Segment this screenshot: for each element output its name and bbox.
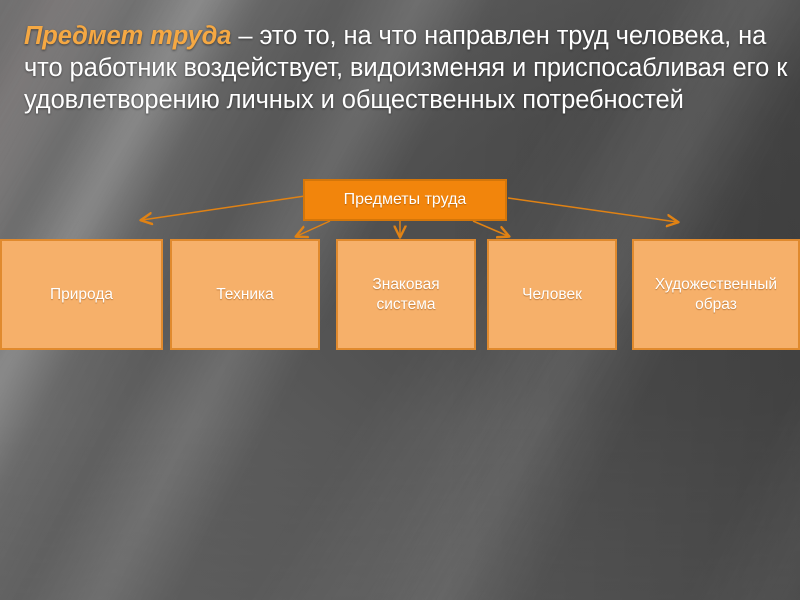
diagram-node-root[interactable]: Предметы труда [303, 179, 507, 221]
diagram-node-chelovek[interactable]: Человек [487, 239, 617, 350]
diagram-node-chelovek-label: Человек [522, 285, 582, 305]
diagram-node-hudozhestvennyy-obraz-label: Художественный образ [646, 275, 786, 315]
diagram-node-priroda-label: Природа [50, 285, 113, 305]
diagram-node-znakovaya-sistema-label: Знаковая система [351, 275, 461, 315]
diagram-node-priroda[interactable]: Природа [0, 239, 163, 350]
slide: Предмет труда – это то, на что направлен… [0, 0, 800, 600]
slide-body-text: Предмет труда – это то, на что направлен… [24, 20, 800, 116]
definition-term: Предмет труда [24, 22, 231, 50]
diagram-node-tehnika[interactable]: Техника [170, 239, 320, 350]
diagram-node-znakovaya-sistema[interactable]: Знаковая система [336, 239, 476, 350]
diagram-node-tehnika-label: Техника [216, 285, 274, 305]
diagram-node-hudozhestvennyy-obraz[interactable]: Художественный образ [632, 239, 800, 350]
diagram-node-root-label: Предметы труда [344, 190, 467, 210]
